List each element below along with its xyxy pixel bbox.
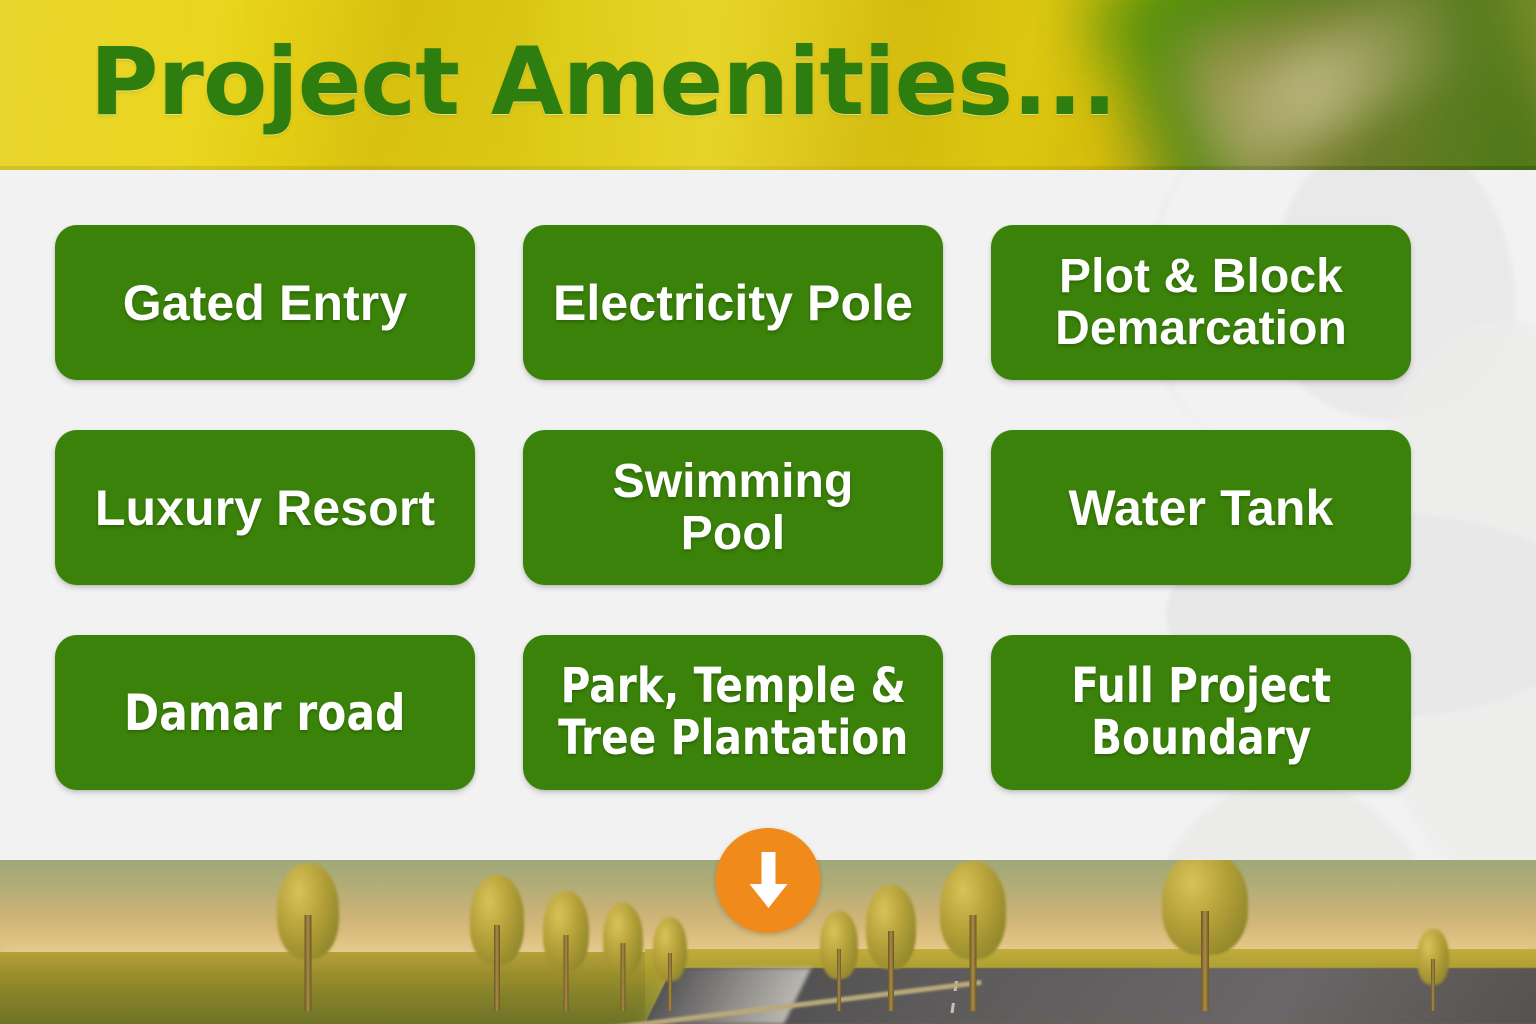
arrow-down-icon [745,850,791,912]
amenity-label: Gated Entry [123,276,408,330]
photo-tree [486,871,508,1011]
photo-tree [556,883,576,1011]
photo-tree [960,861,986,1011]
amenity-label: Electricity Pole [553,276,913,330]
scroll-down-button[interactable] [716,828,821,933]
amenity-card-park-temple-tree-plantation[interactable]: Park, Temple & Tree Plantation [523,635,943,790]
amenity-card-electricity-pole[interactable]: Electricity Pole [523,225,943,380]
amenity-label: Swimming Pool [613,456,854,560]
amenities-grid: Gated Entry Electricity Pole Plot & Bloc… [55,225,1410,790]
amenity-label: Water Tank [1069,481,1334,535]
amenity-label: Full Project Boundary [1071,661,1331,765]
slide-header: Project Amenities... [0,0,1536,170]
photo-tree [295,861,321,1011]
slide-root: Project Amenities... Gated Entry Electri… [0,0,1536,1024]
amenity-card-damar-road[interactable]: Damar road [55,635,475,790]
amenities-content-area: Gated Entry Electricity Pole Plot & Bloc… [0,170,1536,860]
photo-tree [1425,915,1441,1011]
leaf-petal-watermark-bottom [1141,780,1441,860]
amenity-label: Park, Temple & Tree Plantation [558,661,908,765]
photo-tree [880,879,902,1011]
amenity-card-gated-entry[interactable]: Gated Entry [55,225,475,380]
photo-tree [830,899,848,1011]
amenity-label: Plot & Block Demarcation [1055,251,1347,355]
amenity-card-full-project-boundary[interactable]: Full Project Boundary [991,635,1411,790]
photo-tree [662,905,678,1011]
amenity-card-luxury-resort[interactable]: Luxury Resort [55,430,475,585]
page-title: Project Amenities... [0,34,1536,133]
amenity-label: Luxury Resort [95,481,435,535]
amenity-card-plot-block-demarcation[interactable]: Plot & Block Demarcation [991,225,1411,380]
photo-tree [614,893,632,1011]
amenity-card-swimming-pool[interactable]: Swimming Pool [523,430,943,585]
amenity-card-water-tank[interactable]: Water Tank [991,430,1411,585]
photo-tree [1190,860,1220,1011]
amenity-label: Damar road [124,686,405,740]
